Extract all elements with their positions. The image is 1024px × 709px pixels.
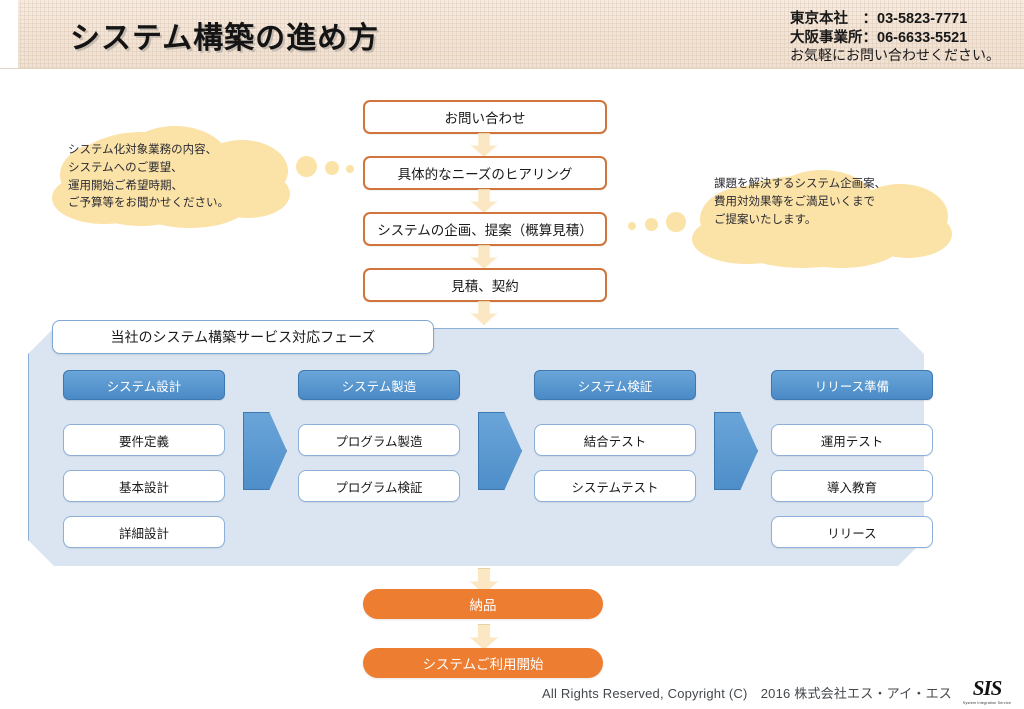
task-basic-design[interactable]: 基本設計 [63,470,225,502]
cloud-line: ご提案いたします。 [714,212,886,230]
footer-copyright: All Rights Reserved, Copyright (C) 2016 … [542,683,952,702]
flow-step-delivery[interactable]: 納品 [363,589,603,619]
logo-wordmark: SIS [956,679,1018,698]
contact-block: 東京本社 ：03-5823-7771 大阪事業所：06-6633-5521 お気… [790,10,1000,65]
flow-arrow-down [471,133,497,157]
cloud-trail-dot [346,165,354,173]
page-title: システム構築の進め方 [70,13,379,57]
phase-column-verification: システム検証 結合テスト システムテスト [534,370,694,502]
cloud-text-left: システム化対象業務の内容、 システムへのご要望、 運用開始ご希望時期、 ご予算等… [68,142,229,213]
phase-column-release: リリース準備 運用テスト 導入教育 リリース [771,370,931,548]
cloud-trail-dot [666,212,686,232]
sis-logo: SIS System Integration Service [956,679,1018,705]
contact-tokyo: 東京本社 ：03-5823-7771 [790,10,1000,29]
phase-column-design: システム設計 要件定義 基本設計 詳細設計 [63,370,223,548]
flow-step-hearing[interactable]: 具体的なニーズのヒアリング [363,156,607,190]
phase-header-manufacture[interactable]: システム製造 [298,370,460,400]
header-band: システム構築の進め方 東京本社 ：03-5823-7771 大阪事業所：06-6… [0,0,1024,69]
flow-step-planning[interactable]: システムの企画、提案（概算見積） [363,212,607,246]
cloud-text-right: 課題を解決するシステム企画案、 費用対効果等をご満足いくまで ご提案いたします。 [714,176,886,229]
cloud-line: 運用開始ご希望時期、 [68,178,229,196]
logo-tagline: System Integration Service [956,701,1018,705]
flow-step-inquiry[interactable]: お問い合わせ [363,100,607,134]
cloud-line: 費用対効果等をご満足いくまで [714,194,886,212]
cloud-line: ご予算等をお聞かせください。 [68,195,229,213]
cloud-trail-dot [325,161,339,175]
task-program-manufacture[interactable]: プログラム製造 [298,424,460,456]
flow-step-service-start[interactable]: システムご利用開始 [363,648,603,678]
phase-header-verification[interactable]: システム検証 [534,370,696,400]
flow-arrow-down [471,301,497,325]
cloud-line: 課題を解決するシステム企画案、 [714,176,886,194]
cloud-trail-dot [645,218,658,231]
contact-note: お気軽にお問い合わせください。 [790,47,1000,65]
cloud-trail-dot [628,222,636,230]
task-operation-test[interactable]: 運用テスト [771,424,933,456]
task-program-verification[interactable]: プログラム検証 [298,470,460,502]
cloud-line: システム化対象業務の内容、 [68,142,229,160]
task-requirements-definition[interactable]: 要件定義 [63,424,225,456]
flow-arrow-down [471,189,497,213]
task-system-test[interactable]: システムテスト [534,470,696,502]
cloud-trail-dot [296,156,317,177]
contact-osaka: 大阪事業所：06-6633-5521 [790,29,1000,48]
flow-arrow-down [471,245,497,269]
phase-header-design[interactable]: システム設計 [63,370,225,400]
phase-column-manufacture: システム製造 プログラム製造 プログラム検証 [298,370,458,502]
task-detailed-design[interactable]: 詳細設計 [63,516,225,548]
task-integration-test[interactable]: 結合テスト [534,424,696,456]
task-introduction-training[interactable]: 導入教育 [771,470,933,502]
flow-arrow-down [470,624,498,650]
task-release[interactable]: リリース [771,516,933,548]
phase-section-label: 当社のシステム構築サービス対応フェーズ [52,320,434,354]
cloud-line: システムへのご要望、 [68,160,229,178]
phase-header-release[interactable]: リリース準備 [771,370,933,400]
header-left-edge [0,0,18,68]
slide-canvas: システム構築の進め方 東京本社 ：03-5823-7771 大阪事業所：06-6… [0,0,1024,709]
flow-step-contract[interactable]: 見積、契約 [363,268,607,302]
